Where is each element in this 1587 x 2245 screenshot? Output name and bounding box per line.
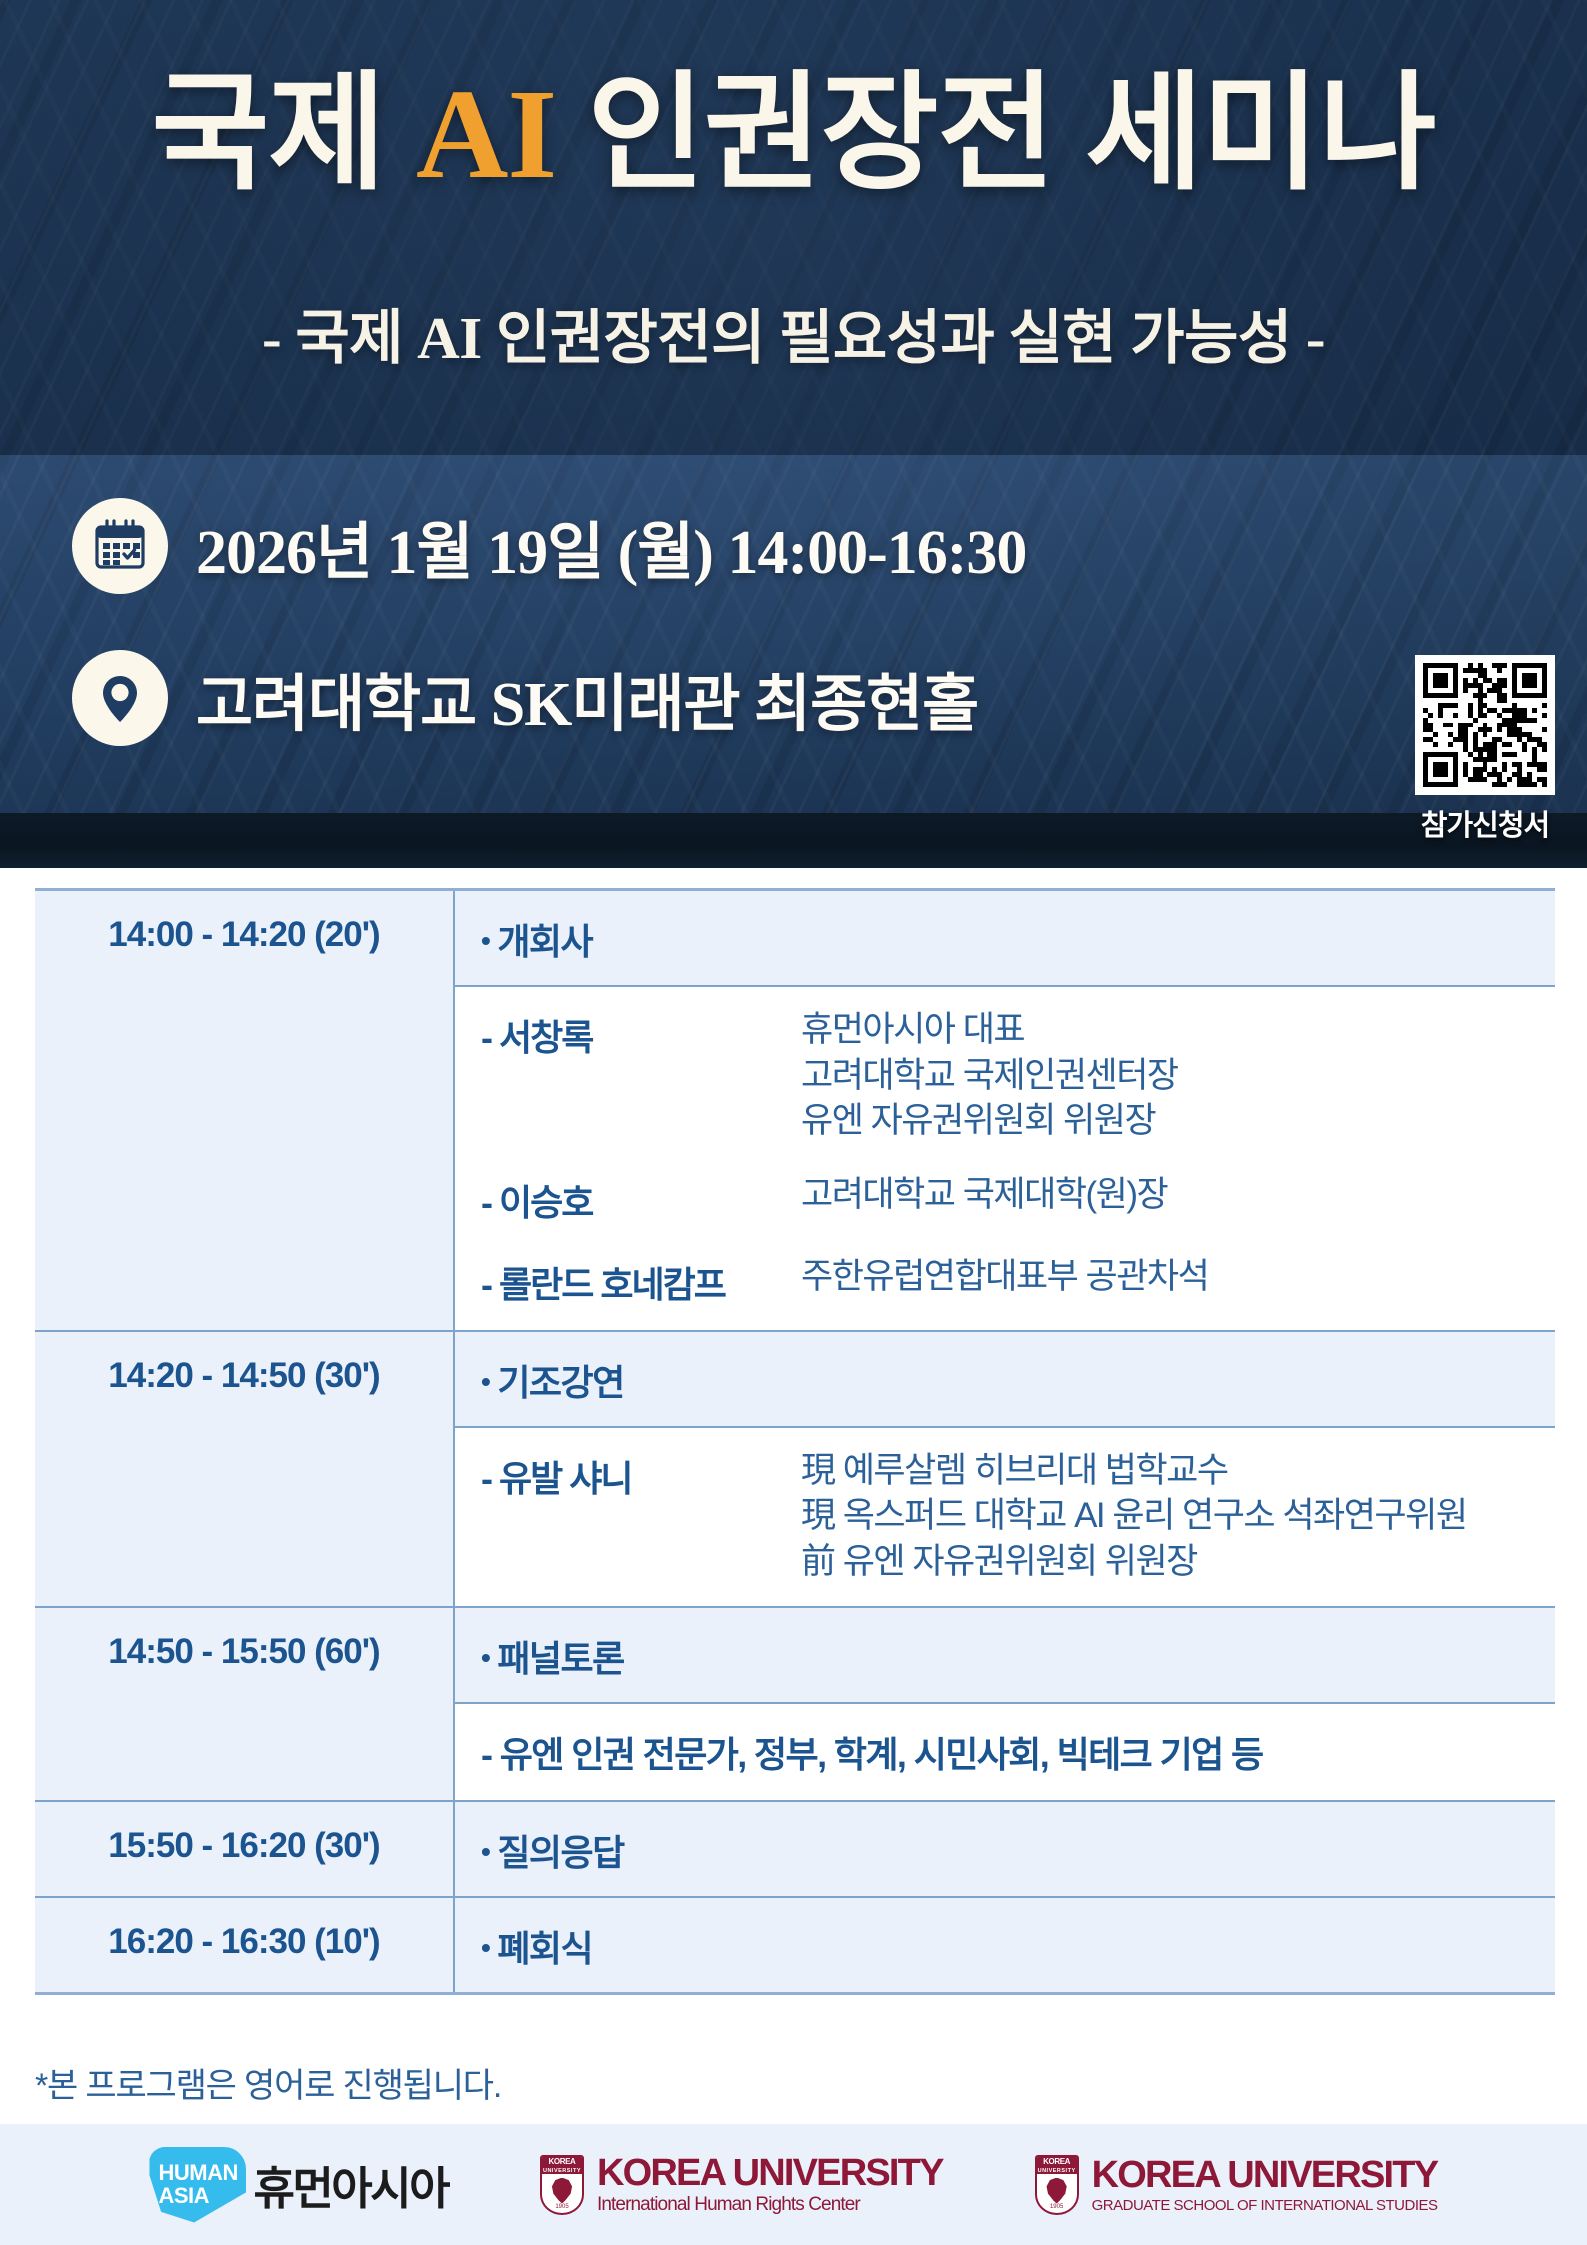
ku-shield-label: KOREA UNIVERSITY — [542, 2157, 582, 2174]
schedule-section-detail: - 서창록휴먼아시아 대표고려대학교 국제인권센터장유엔 자유권위원회 위원장-… — [455, 985, 1555, 1330]
human-asia-mark-icon: HUMAN ASIA — [149, 2147, 246, 2223]
ku-tiger-icon — [550, 2178, 574, 2204]
ku-gsis-sub: GRADUATE SCHOOL OF INTERNATIONAL STUDIES — [1092, 2198, 1438, 2214]
ku-shield-label-bottom: UNIVERSITY — [543, 2168, 581, 2174]
bullet-icon: • — [481, 1366, 489, 1397]
speaker-entry: - 서창록휴먼아시아 대표고려대학교 국제인권센터장유엔 자유권위원회 위원장 — [455, 1007, 1555, 1144]
ku-gsis-main: KOREA UNIVERSITY — [1092, 2156, 1438, 2195]
schedule-section-label: 기조강연 — [497, 1362, 623, 1403]
event-place-row: 고려대학교 SK미래관 최종현홀 — [72, 650, 978, 746]
speaker-name: - 서창록 — [481, 1007, 801, 1061]
schedule-detail-line: - 유엔 인권 전문가, 정부, 학계, 시민사회, 빅테크 기업 등 — [455, 1726, 1555, 1778]
logo-ku-ihrc: KOREA UNIVERSITY 1905 KOREA UNIVERSITY I… — [540, 2154, 943, 2216]
schedule-body-cell: •개회사- 서창록휴먼아시아 대표고려대학교 국제인권센터장유엔 자유권위원회 … — [455, 891, 1555, 1330]
ku-shield-year: 1905 — [1050, 2204, 1063, 2211]
bullet-icon: • — [481, 1836, 489, 1867]
event-date-text: 2026년 1월 19일 (월) 14:00-16:30 — [196, 501, 1026, 591]
schedule-row: 15:50 - 16:20 (30')•질의응답 — [35, 1800, 1555, 1896]
human-asia-wordmark: 휴먼아시아 — [253, 2152, 448, 2217]
title-part-ai: AI — [416, 63, 556, 205]
speaker-entry: - 롤란드 호네캄프주한유럽연합대표부 공관차석 — [455, 1254, 1555, 1308]
schedule-time-text: 14:00 - 14:20 (20') — [108, 915, 379, 955]
schedule-time-text: 14:50 - 15:50 (60') — [108, 1632, 379, 1672]
footnote: *본 프로그램은 영어로 진행됩니다. — [35, 2058, 501, 2107]
map-pin-icon — [72, 650, 168, 746]
qr-code-image[interactable] — [1415, 655, 1555, 795]
schedule-body-cell: •폐회식 — [455, 1898, 1555, 1992]
schedule-row: 16:20 - 16:30 (10')•폐회식 — [35, 1896, 1555, 1992]
speaker-affiliation: 휴먼아시아 대표고려대학교 국제인권센터장유엔 자유권위원회 위원장 — [801, 1007, 1178, 1144]
event-place-text: 고려대학교 SK미래관 최종현홀 — [196, 653, 978, 743]
ku-shield-label-top: KOREA — [549, 2157, 576, 2166]
ku-shield-label: KOREA UNIVERSITY — [1037, 2157, 1077, 2174]
korea-university-shield-icon: KOREA UNIVERSITY 1905 — [540, 2155, 584, 2215]
sponsor-logo-bar: HUMAN ASIA 휴먼아시아 KOREA UNIVERSITY 1905 K… — [0, 2124, 1587, 2245]
schedule-time-cell: 14:50 - 15:50 (60') — [35, 1608, 455, 1800]
schedule-body-cell: •질의응답 — [455, 1802, 1555, 1896]
schedule-section-label: 폐회식 — [497, 1928, 592, 1969]
schedule-section-label: 개회사 — [497, 921, 592, 962]
poster-header: 국제 AI 인권장전 세미나 - 국제 AI 인권장전의 필요성과 실현 가능성… — [0, 0, 1587, 868]
bullet-icon: • — [481, 1932, 489, 1963]
schedule-section-label: 패널토론 — [497, 1638, 623, 1679]
human-asia-mark-line1: HUMAN — [158, 2162, 237, 2184]
ku-gsis-text: KOREA UNIVERSITY GRADUATE SCHOOL OF INTE… — [1092, 2156, 1438, 2214]
page-title: 국제 AI 인권장전 세미나 — [0, 56, 1587, 212]
speaker-affiliation: 주한유럽연합대표부 공관차석 — [801, 1254, 1208, 1300]
speaker-entry: - 유발 샤니現 예루살렘 히브리대 법학교수現 옥스퍼드 대학교 AI 윤리 … — [455, 1448, 1555, 1585]
bullet-icon: • — [481, 925, 489, 956]
schedule-time-text: 16:20 - 16:30 (10') — [108, 1922, 379, 1962]
qr-caption: 참가신청서 — [1415, 802, 1555, 844]
schedule-body-cell: •패널토론- 유엔 인권 전문가, 정부, 학계, 시민사회, 빅테크 기업 등 — [455, 1608, 1555, 1800]
speaker-name: - 유발 샤니 — [481, 1448, 801, 1502]
title-part-post: 인권장전 세미나 — [556, 63, 1435, 205]
schedule-row: 14:50 - 15:50 (60')•패널토론- 유엔 인권 전문가, 정부,… — [35, 1606, 1555, 1800]
logo-human-asia: HUMAN ASIA 휴먼아시아 — [149, 2147, 448, 2223]
schedule-table: 14:00 - 14:20 (20')•개회사- 서창록휴먼아시아 대표고려대학… — [35, 888, 1555, 1995]
ku-shield-label-bottom: UNIVERSITY — [1038, 2168, 1076, 2174]
schedule-section-detail: - 유발 샤니現 예루살렘 히브리대 법학교수現 옥스퍼드 대학교 AI 윤리 … — [455, 1426, 1555, 1607]
speaker-name: - 이승호 — [481, 1172, 801, 1226]
logo-ku-gsis: KOREA UNIVERSITY 1905 KOREA UNIVERSITY G… — [1035, 2155, 1438, 2215]
bullet-icon: • — [481, 1642, 489, 1673]
schedule-time-cell: 14:20 - 14:50 (30') — [35, 1332, 455, 1607]
title-part-pre: 국제 — [151, 63, 416, 205]
ku-shield-label-top: KOREA — [1043, 2157, 1070, 2166]
schedule-section-title: •패널토론 — [455, 1608, 1555, 1702]
ku-shield-year: 1905 — [555, 2204, 568, 2211]
schedule-time-text: 14:20 - 14:50 (30') — [108, 1356, 379, 1396]
schedule-row: 14:00 - 14:20 (20')•개회사- 서창록휴먼아시아 대표고려대학… — [35, 891, 1555, 1330]
calendar-icon — [72, 498, 168, 594]
ku-ihrc-text: KOREA UNIVERSITY International Human Rig… — [597, 2154, 943, 2216]
schedule-time-text: 15:50 - 16:20 (30') — [108, 1826, 379, 1866]
schedule-time-cell: 16:20 - 16:30 (10') — [35, 1898, 455, 1992]
qr-modules — [1423, 663, 1547, 787]
human-asia-mark-line2: ASIA — [158, 2185, 209, 2207]
registration-qr[interactable]: 참가신청서 — [1415, 655, 1555, 844]
header-bottom-strip — [0, 813, 1587, 868]
schedule-section-title: •기조강연 — [455, 1332, 1555, 1426]
page-subtitle: - 국제 AI 인권장전의 필요성과 실현 가능성 - — [0, 290, 1587, 375]
speaker-entry: - 이승호고려대학교 국제대학(원)장 — [455, 1172, 1555, 1226]
schedule-time-cell: 14:00 - 14:20 (20') — [35, 891, 455, 1330]
ku-ihrc-sub: International Human Rights Center — [597, 2195, 943, 2215]
speaker-name: - 롤란드 호네캄프 — [481, 1254, 801, 1308]
schedule-body-cell: •기조강연- 유발 샤니現 예루살렘 히브리대 법학교수現 옥스퍼드 대학교 A… — [455, 1332, 1555, 1607]
speaker-affiliation: 고려대학교 국제대학(원)장 — [801, 1172, 1167, 1218]
schedule-row: 14:20 - 14:50 (30')•기조강연- 유발 샤니現 예루살렘 히브… — [35, 1330, 1555, 1607]
korea-university-shield-icon: KOREA UNIVERSITY 1905 — [1035, 2155, 1079, 2215]
schedule-section-title: •개회사 — [455, 891, 1555, 985]
ku-tiger-icon — [1045, 2178, 1069, 2204]
speaker-affiliation: 現 예루살렘 히브리대 법학교수現 옥스퍼드 대학교 AI 윤리 연구소 석좌연… — [801, 1448, 1467, 1585]
event-date-row: 2026년 1월 19일 (월) 14:00-16:30 — [72, 498, 1026, 594]
schedule-time-cell: 15:50 - 16:20 (30') — [35, 1802, 455, 1896]
schedule-section-title: •질의응답 — [455, 1802, 1555, 1896]
ku-ihrc-main: KOREA UNIVERSITY — [597, 2154, 943, 2193]
schedule-section-title: •폐회식 — [455, 1898, 1555, 1992]
schedule-section-detail: - 유엔 인권 전문가, 정부, 학계, 시민사회, 빅테크 기업 등 — [455, 1702, 1555, 1800]
seminar-poster: 국제 AI 인권장전 세미나 - 국제 AI 인권장전의 필요성과 실현 가능성… — [0, 0, 1587, 2245]
schedule-section-label: 질의응답 — [497, 1832, 623, 1873]
